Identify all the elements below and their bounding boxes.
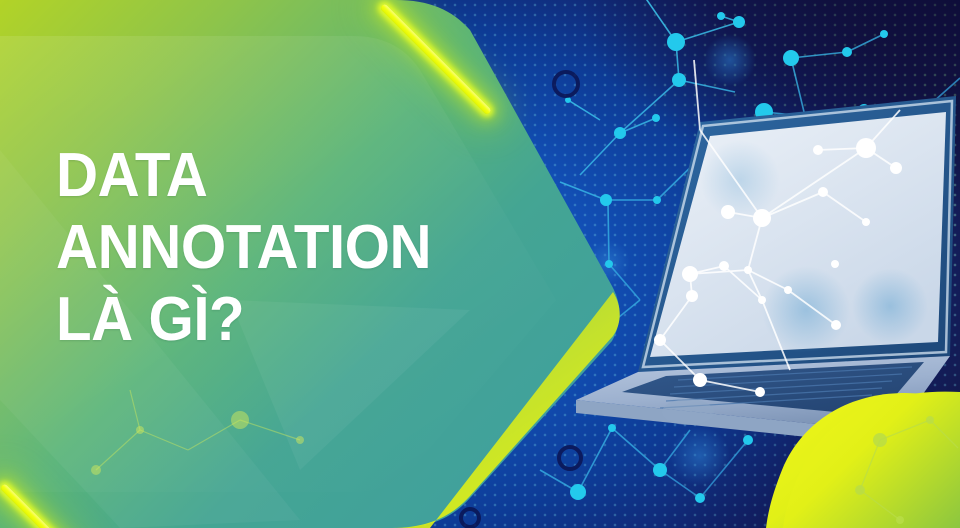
title-line-3: LÀ GÌ?	[56, 284, 545, 356]
poster-canvas: DATA ANNOTATION LÀ GÌ?	[0, 0, 960, 528]
poster-title: DATA ANNOTATION LÀ GÌ?	[56, 140, 576, 356]
title-line-2: ANNOTATION	[56, 212, 545, 284]
title-line-1: DATA	[56, 140, 545, 212]
